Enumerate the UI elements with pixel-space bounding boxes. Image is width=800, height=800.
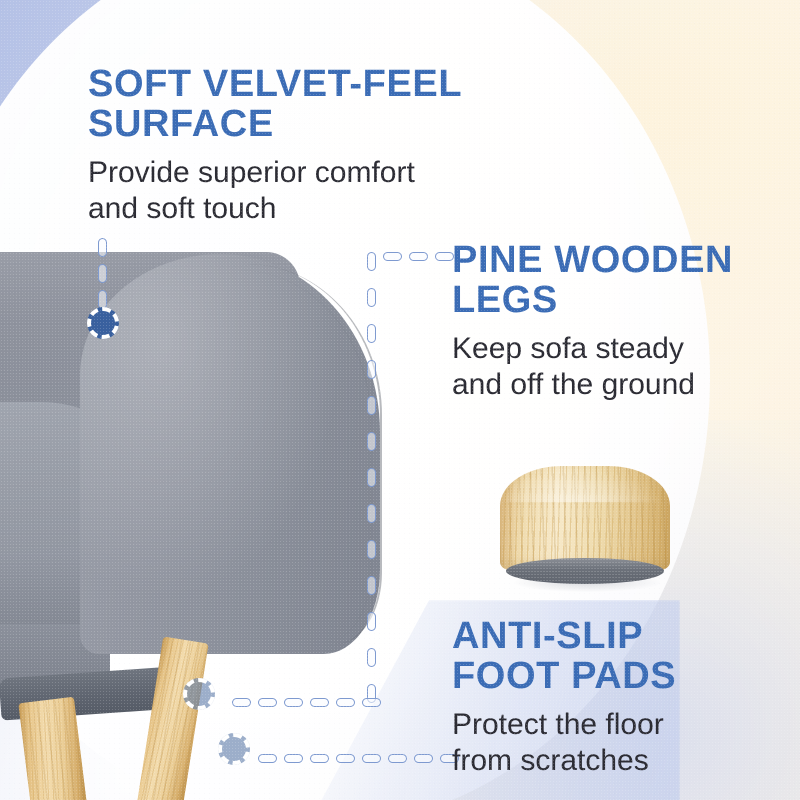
callout-foot-pads-subtitle: Protect the floor from scratches (452, 707, 782, 780)
callout-velvet-surface: SOFT VELVET-FEEL SURFACE Provide superio… (88, 64, 558, 228)
connector-leg-upper (232, 698, 372, 707)
infographic-canvas: SOFT VELVET-FEEL SURFACE Provide superio… (0, 0, 800, 800)
foot-pad-photo (500, 466, 670, 590)
foot-pad-wood-body (500, 466, 670, 570)
marker-leg-upper[interactable] (183, 678, 215, 710)
callout-pine-legs: PINE WOODEN LEGS Keep sofa steady and of… (452, 240, 792, 404)
callout-velvet-surface-subtitle: Provide superior comfort and soft touch (88, 155, 558, 228)
callout-velvet-surface-title: SOFT VELVET-FEEL SURFACE (88, 64, 558, 145)
callout-pine-legs-title: PINE WOODEN LEGS (452, 240, 792, 321)
callout-foot-pads-title: ANTI-SLIP FOOT PADS (452, 616, 782, 697)
callout-pine-legs-subtitle: Keep sofa steady and off the ground (452, 331, 792, 404)
marker-leg-lower[interactable] (218, 733, 250, 765)
marker-velvet-surface[interactable] (87, 307, 119, 339)
foot-pad-shadow (514, 576, 660, 592)
connector-velvet-surface (98, 238, 107, 308)
connector-pine-legs-vertical (367, 252, 376, 702)
sofa-armrest (80, 254, 380, 654)
connector-foot-pads (258, 754, 433, 763)
connector-pine-legs-horizontal (383, 252, 453, 261)
callout-foot-pads: ANTI-SLIP FOOT PADS Protect the floor fr… (452, 616, 782, 780)
